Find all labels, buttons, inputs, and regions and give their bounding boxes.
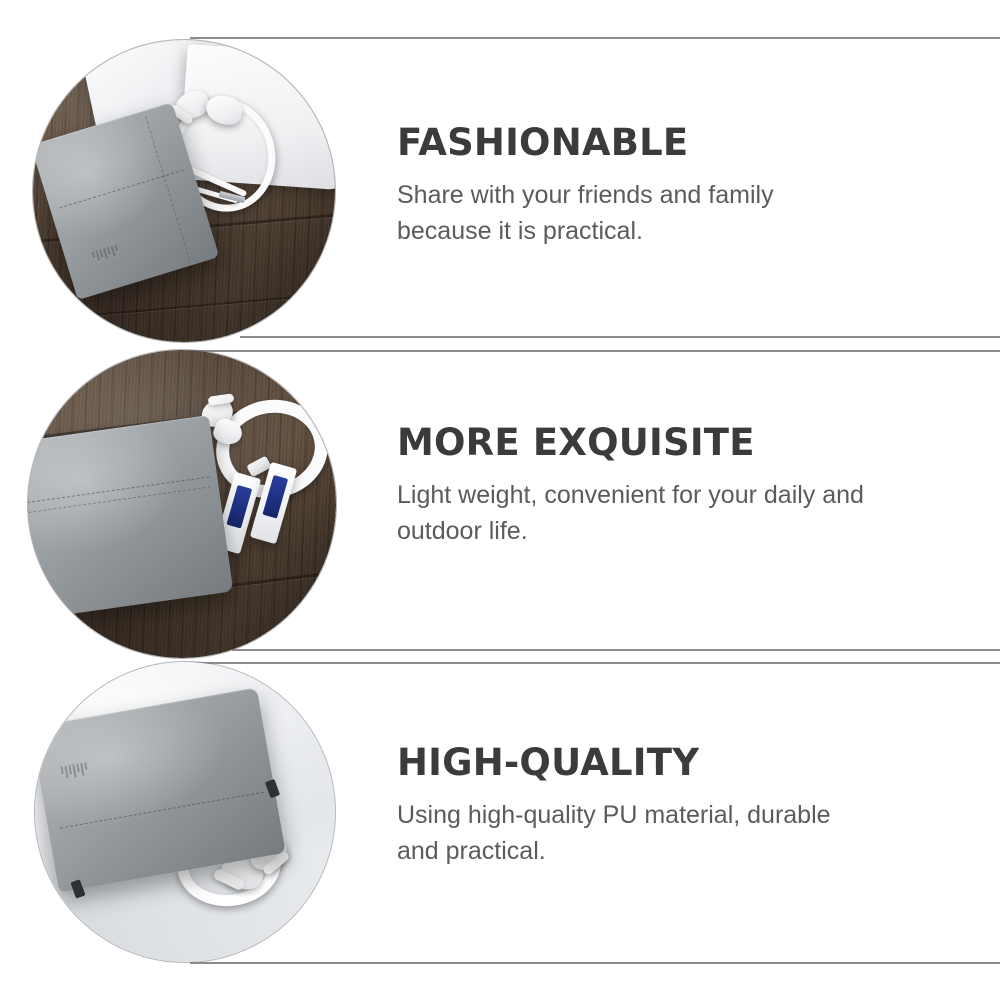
pouch-edge-stitch — [28, 487, 210, 514]
feature-2-body: Light weight, convenient for your daily … — [397, 477, 867, 549]
feature-3-headline: HIGH-QUALITY — [397, 744, 917, 783]
feature-2-photo-inner — [28, 350, 336, 658]
pouch-flap-stitch — [60, 792, 264, 829]
feature-3-body: Using high-quality PU material, durable … — [397, 797, 867, 869]
pouch-brand-logo — [91, 244, 119, 263]
divider-1-bottom — [240, 336, 1000, 338]
usb-blue-band — [262, 475, 288, 518]
feature-2-headline: MORE EXQUISITE — [397, 424, 917, 463]
gray-pu-pouch — [28, 415, 233, 619]
feature-1-headline: FASHIONABLE — [397, 124, 917, 163]
feature-3-photo-inner — [35, 662, 335, 962]
feature-3-photo — [35, 662, 335, 962]
pouch-flap-stitch — [59, 170, 184, 209]
product-feature-page: FASHIONABLE Share with your friends and … — [0, 0, 1000, 1000]
feature-1-body: Share with your friends and family becau… — [397, 177, 867, 249]
feature-3-copy: HIGH-QUALITY Using high-quality PU mater… — [397, 744, 917, 869]
divider-bottom — [190, 962, 1000, 964]
usb-blue-band — [226, 485, 252, 528]
divider-2-bottom — [232, 649, 1000, 651]
feature-1-photo-inner — [33, 40, 335, 342]
feature-2-photo — [28, 350, 336, 658]
divider-top — [190, 37, 1000, 39]
feature-1-copy: FASHIONABLE Share with your friends and … — [397, 124, 917, 249]
feature-2-copy: MORE EXQUISITE Light weight, convenient … — [397, 424, 917, 549]
pouch-brand-logo — [60, 762, 88, 780]
feature-1-photo — [33, 40, 335, 342]
